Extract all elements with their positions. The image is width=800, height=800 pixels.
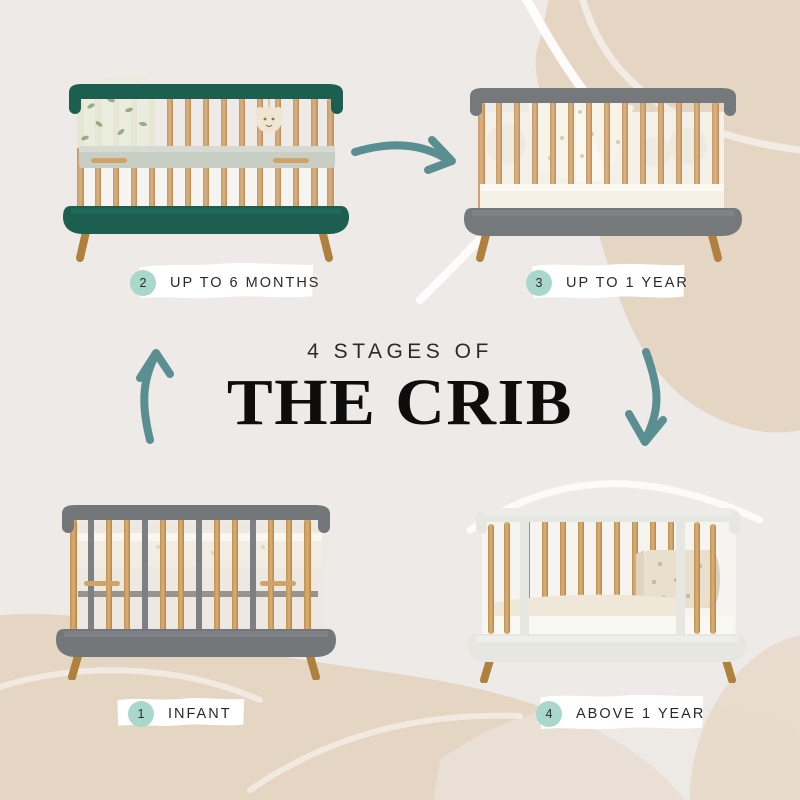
stage-label-4[interactable]: 4 ABOVE 1 YEAR [528, 695, 723, 733]
stage-badge-2: 2 [130, 270, 156, 296]
stage-label-2[interactable]: 2 UP TO 6 MONTHS [122, 264, 338, 302]
stage-badge-4: 4 [536, 701, 562, 727]
page-title: THE CRIB [0, 370, 800, 436]
stage-label-3[interactable]: 3 UP TO 1 YEAR [518, 264, 707, 302]
stage-label-text-4: ABOVE 1 YEAR [576, 706, 705, 722]
stage-badge-3: 3 [526, 270, 552, 296]
infographic-canvas: 4 STAGES OF THE CRIB 2 UP TO 6 MONTHS 3 … [0, 0, 800, 800]
title-block: 4 STAGES OF THE CRIB [0, 340, 800, 436]
stage-label-text-2: UP TO 6 MONTHS [170, 275, 320, 291]
arrow-stage2-to-stage3 [355, 140, 452, 170]
stage-badge-1: 1 [128, 701, 154, 727]
title-kicker: 4 STAGES OF [0, 340, 800, 364]
stage-label-text-1: INFANT [168, 706, 232, 722]
stage-label-1[interactable]: 1 INFANT [120, 695, 250, 733]
stage-label-text-3: UP TO 1 YEAR [566, 275, 689, 291]
